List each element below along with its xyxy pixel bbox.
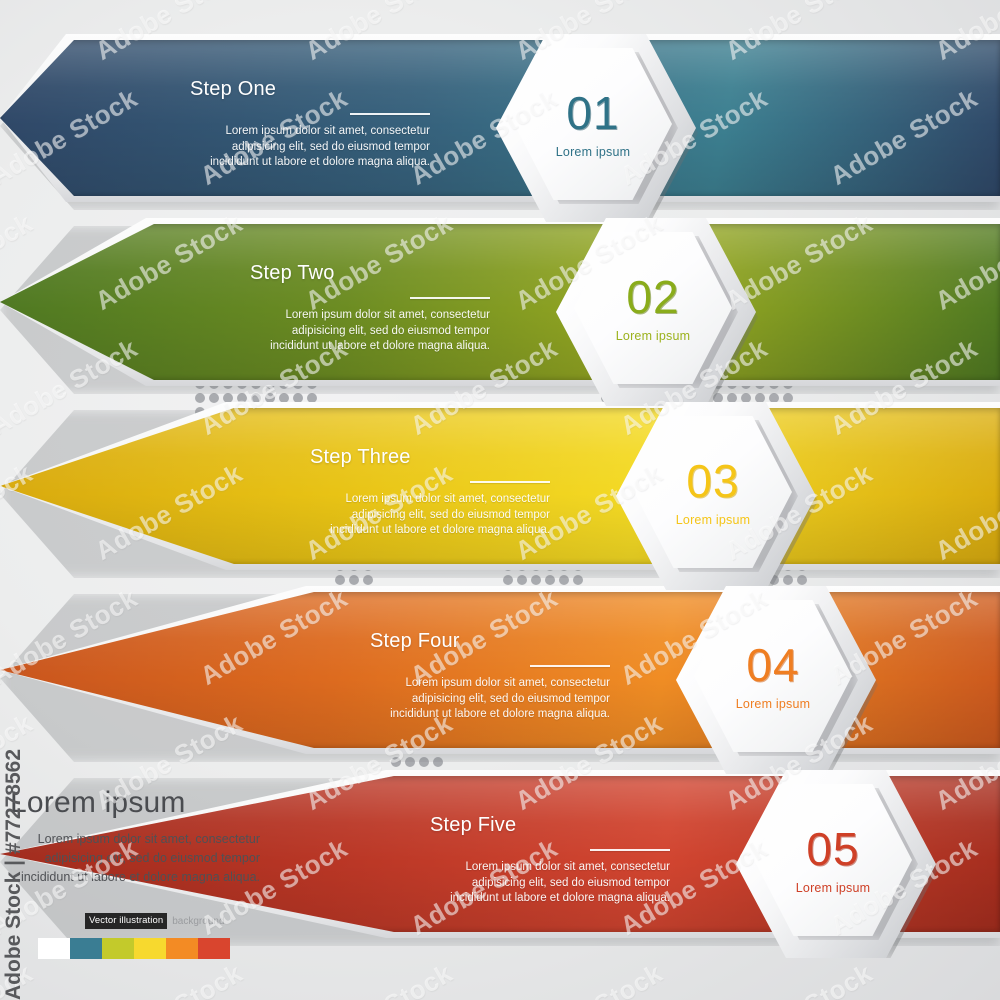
step-2-hex-badge[interactable]: 02 Lorem ipsum xyxy=(556,218,766,408)
step-3-number: 03 xyxy=(686,458,739,504)
step-3-title: Step Three xyxy=(310,446,550,469)
swatch-0 xyxy=(38,938,70,959)
band-inner-shadow xyxy=(0,224,1000,380)
step-1-caption: Lorem ipsum xyxy=(556,145,630,159)
band-color-fill xyxy=(0,224,1000,380)
step-5-divider xyxy=(590,849,670,851)
step-4-number: 04 xyxy=(746,642,799,688)
footer-title: Lorem ipsum xyxy=(10,786,300,820)
step-5-number: 05 xyxy=(806,826,859,872)
step-2-text: Step Two Lorem ipsum dolor sit amet, con… xyxy=(250,262,490,355)
step-4-title: Step Four xyxy=(370,630,610,653)
footer-block: Lorem ipsum Lorem ipsum dolor sit amet, … xyxy=(10,786,300,959)
step-1-text: Step One Lorem ipsum dolor sit amet, con… xyxy=(190,78,430,171)
step-2-body: Lorem ipsum dolor sit amet, consectetur … xyxy=(250,308,490,355)
step-4-hex-badge[interactable]: 04 Lorem ipsum xyxy=(676,586,886,776)
step-2-divider xyxy=(410,297,490,299)
footer-body: Lorem ipsum dolor sit amet, consectetur … xyxy=(10,830,260,887)
step-5-body: Lorem ipsum dolor sit amet, consectetur … xyxy=(430,860,670,907)
step-1-number: 01 xyxy=(566,90,619,136)
step-4-caption: Lorem ipsum xyxy=(736,697,810,711)
step-4-body: Lorem ipsum dolor sit amet, consectetur … xyxy=(370,676,610,723)
step-1-body: Lorem ipsum dolor sit amet, consectetur … xyxy=(190,124,430,171)
swatch-3 xyxy=(134,938,166,959)
stock-credit-watermark: Adobe Stock | #77278562 xyxy=(2,749,26,1000)
step-5-title: Step Five xyxy=(430,814,670,837)
step-2-caption: Lorem ipsum xyxy=(616,329,690,343)
step-4-text: Step Four Lorem ipsum dolor sit amet, co… xyxy=(370,630,610,723)
step-3-body: Lorem ipsum dolor sit amet, consectetur … xyxy=(310,492,550,539)
step-3-text: Step Three Lorem ipsum dolor sit amet, c… xyxy=(310,446,550,539)
step-band-2[interactable]: Step Two Lorem ipsum dolor sit amet, con… xyxy=(0,218,1000,386)
step-2-number: 02 xyxy=(626,274,679,320)
step-5-text: Step Five Lorem ipsum dolor sit amet, co… xyxy=(430,814,670,907)
tagline-light: background xyxy=(172,916,224,927)
step-band-3[interactable]: Step Three Lorem ipsum dolor sit amet, c… xyxy=(0,402,1000,570)
step-2-title: Step Two xyxy=(250,262,490,285)
step-1-hex-badge[interactable]: 01 Lorem ipsum xyxy=(496,34,706,224)
color-swatch-bar xyxy=(38,938,300,959)
step-5-hex-badge[interactable]: 05 Lorem ipsum xyxy=(736,770,946,960)
swatch-5 xyxy=(198,938,230,959)
band-gloss xyxy=(0,224,1000,380)
swatch-1 xyxy=(70,938,102,959)
swatch-4 xyxy=(166,938,198,959)
step-1-divider xyxy=(350,113,430,115)
step-5-caption: Lorem ipsum xyxy=(796,881,870,895)
step-3-caption: Lorem ipsum xyxy=(676,513,750,527)
tagline: Vector illustration background xyxy=(85,913,300,929)
tagline-strong: Vector illustration xyxy=(85,913,167,929)
step-3-divider xyxy=(470,481,550,483)
step-3-hex-badge[interactable]: 03 Lorem ipsum xyxy=(616,402,826,592)
step-4-divider xyxy=(530,665,610,667)
swatch-2 xyxy=(102,938,134,959)
step-1-title: Step One xyxy=(190,78,430,101)
